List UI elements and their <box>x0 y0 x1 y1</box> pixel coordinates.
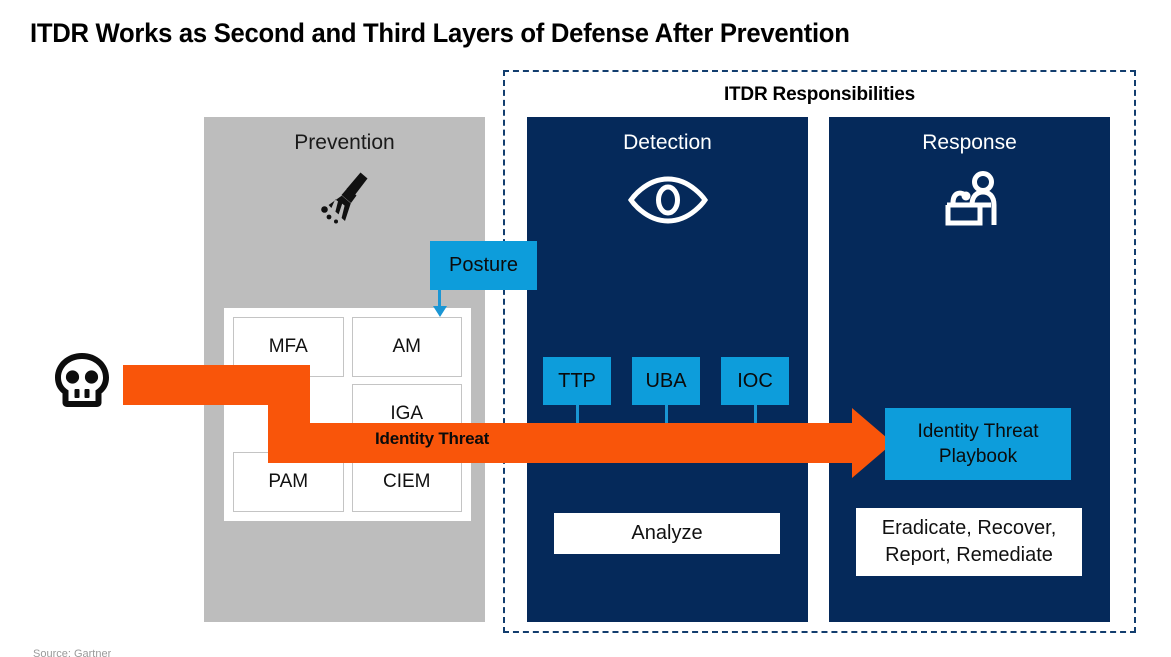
capability-am[interactable]: AM <box>352 317 463 377</box>
response-heading: Response <box>829 131 1110 155</box>
detection-outcome-analyze: Analyze <box>554 513 780 554</box>
eye-icon <box>527 169 808 231</box>
posture-chip[interactable]: Posture <box>430 241 537 290</box>
capability-mfa[interactable]: MFA <box>233 317 344 377</box>
arrow-uba-down-icon <box>665 405 668 425</box>
prevention-capability-grid: MFA AM IGA PAM CIEM <box>233 317 462 512</box>
arrow-ioc-down-icon <box>754 405 757 425</box>
prevention-heading: Prevention <box>204 131 485 155</box>
detection-heading: Detection <box>527 131 808 155</box>
capability-ciem[interactable]: CIEM <box>352 452 463 512</box>
identity-threat-label: Identity Threat <box>375 429 489 449</box>
source-note: Source: Gartner <box>33 648 111 657</box>
page-title: ITDR Works as Second and Third Layers of… <box>30 18 850 49</box>
posture-down-arrow-icon <box>438 290 441 308</box>
diagram-canvas: ITDR Works as Second and Third Layers of… <box>0 0 1171 657</box>
detection-chip-ioc[interactable]: IOC <box>721 357 789 405</box>
capability-placeholder <box>233 384 344 444</box>
response-identity-threat-playbook[interactable]: Identity Threat Playbook <box>885 408 1071 480</box>
detection-chip-uba[interactable]: UBA <box>632 357 700 405</box>
itdr-group-label: ITDR Responsibilities <box>503 84 1136 106</box>
broom-sweep-icon <box>204 169 485 231</box>
response-outcome-actions: Eradicate, Recover, Report, Remediate <box>856 508 1082 576</box>
analyst-at-desk-icon <box>829 169 1110 231</box>
skull-icon <box>52 352 112 410</box>
detection-chip-ttp[interactable]: TTP <box>543 357 611 405</box>
arrow-ttp-down-icon <box>576 405 579 425</box>
prevention-capability-card: MFA AM IGA PAM CIEM <box>224 308 471 521</box>
capability-pam[interactable]: PAM <box>233 452 344 512</box>
